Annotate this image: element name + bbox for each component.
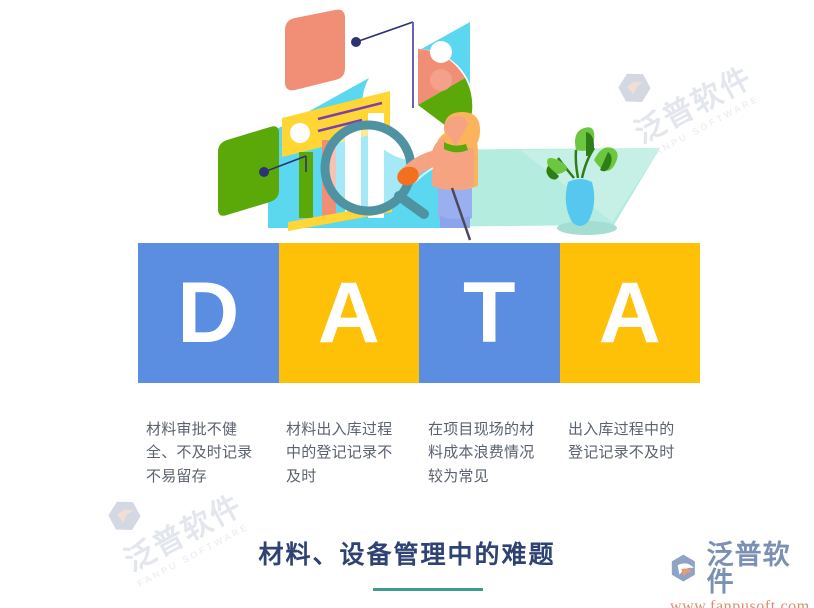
title-underline (373, 588, 483, 591)
data-block-d: D (138, 243, 279, 383)
data-block-a2: A (560, 243, 701, 383)
brand-logo: 泛普软件 www.fanpusoft.com (668, 542, 814, 608)
legend-dot-salmon (430, 69, 452, 91)
caption-item: 在项目现场的材料成本浪费情况较为常见 (418, 418, 560, 488)
brand-url: www.fanpusoft.com (670, 598, 810, 608)
callout-card-salmon (285, 10, 345, 91)
data-analysis-illustration (0, 0, 814, 260)
caption-item: 材料出入库过程中的登记记录不及时 (278, 418, 418, 488)
caption-item: 材料审批不健全、不及时记录不易留存 (138, 418, 278, 488)
brand-logo-icon (668, 553, 701, 585)
legend-dot-white (430, 41, 452, 63)
brand-name: 泛普软件 (707, 542, 814, 596)
legend-dot-green (430, 97, 452, 119)
data-blocks-row: D A T A (138, 243, 700, 383)
captions-row: 材料审批不健全、不及时记录不易留存 材料出入库过程中的登记记录不及时 在项目现场… (138, 418, 700, 488)
plant-shadow (557, 221, 617, 235)
data-block-a1: A (279, 243, 420, 383)
infographic-canvas: 泛普软件 FANPU SOFTWARE 泛普软件 FANPU SOFTWARE … (0, 0, 814, 608)
data-block-t: T (419, 243, 560, 383)
brand-row: 泛普软件 (668, 542, 814, 596)
caption-item: 出入库过程中的登记记录不及时 (560, 418, 700, 488)
